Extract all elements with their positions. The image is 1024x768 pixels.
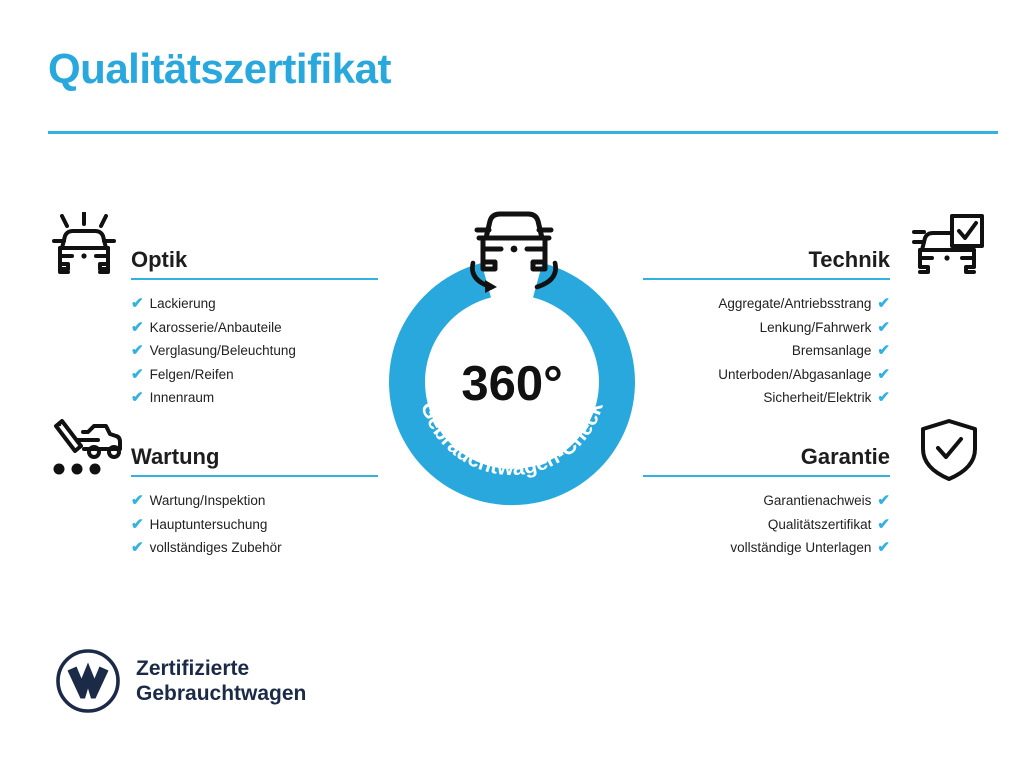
check-icon: ✔ (877, 342, 890, 359)
list-item-label: Verglasung/Beleuchtung (150, 343, 296, 358)
car-service-tool-icon (48, 418, 124, 480)
check-icon: ✔ (131, 539, 144, 556)
list-item-label: Felgen/Reifen (150, 367, 234, 382)
check-icon: ✔ (131, 516, 144, 533)
footer-brand: Zertifizierte Gebrauchtwagen (55, 648, 306, 714)
check-icon: ✔ (131, 295, 144, 312)
section-title: Wartung (131, 446, 219, 468)
checklist: ✔Wartung/Inspektion ✔Hauptuntersuchung ✔… (131, 477, 378, 560)
list-item-label: Hauptuntersuchung (150, 517, 268, 532)
list-item: Lenkung/Fahrwerk✔ (641, 316, 890, 340)
car-rotation-icon (455, 200, 573, 300)
section-divider (131, 278, 378, 280)
list-item-label: Unterboden/Abgasanlage (718, 367, 871, 382)
list-item: Bremsanlage✔ (641, 339, 890, 363)
section-title: Garantie (801, 446, 890, 468)
list-item-label: Wartung/Inspektion (150, 493, 266, 508)
list-item: Qualitätszertifikat✔ (641, 513, 890, 537)
section-header: Technik (641, 234, 890, 280)
page-title: Qualitätszertifikat (48, 48, 391, 90)
check-icon: ✔ (877, 492, 890, 509)
list-item: Garantienachweis✔ (641, 489, 890, 513)
list-item: ✔Hauptuntersuchung (131, 513, 378, 537)
section-wartung: Wartung ✔Wartung/Inspektion ✔Hauptunters… (131, 431, 378, 560)
vw-logo-icon (55, 648, 121, 714)
list-item: Aggregate/Antriebsstrang✔ (641, 292, 890, 316)
shield-check-icon (918, 418, 980, 482)
checklist: ✔Lackierung ✔Karosserie/Anbauteile ✔Verg… (131, 280, 378, 410)
section-divider (643, 475, 890, 477)
section-divider (643, 278, 890, 280)
list-item: ✔Wartung/Inspektion (131, 489, 378, 513)
section-optik: Optik ✔Lackierung ✔Karosserie/Anbauteile… (131, 234, 378, 410)
check-icon: ✔ (131, 366, 144, 383)
check-icon: ✔ (877, 389, 890, 406)
list-item: ✔Karosserie/Anbauteile (131, 316, 378, 340)
check-icon: ✔ (877, 295, 890, 312)
car-sparkle-icon (48, 212, 120, 278)
car-checkbox-icon (912, 212, 986, 278)
check-icon: ✔ (877, 366, 890, 383)
section-technik: Technik Aggregate/Antriebsstrang✔ Lenkun… (641, 234, 890, 410)
list-item-label: Lenkung/Fahrwerk (760, 320, 872, 335)
list-item: vollständige Unterlagen✔ (641, 536, 890, 560)
list-item: ✔Verglasung/Beleuchtung (131, 339, 378, 363)
footer-line-2: Gebrauchtwagen (136, 681, 306, 706)
list-item: Unterboden/Abgasanlage✔ (641, 363, 890, 387)
list-item-label: Qualitätszertifikat (768, 517, 872, 532)
list-item: ✔Innenraum (131, 386, 378, 410)
footer-text: Zertifizierte Gebrauchtwagen (136, 656, 306, 706)
section-title: Optik (131, 249, 187, 271)
list-item-label: vollständige Unterlagen (730, 540, 871, 555)
section-title: Technik (808, 249, 890, 271)
list-item-label: Karosserie/Anbauteile (150, 320, 282, 335)
section-header: Optik (131, 234, 378, 280)
list-item: ✔vollständiges Zubehör (131, 536, 378, 560)
list-item-label: Bremsanlage (792, 343, 872, 358)
check-icon: ✔ (877, 516, 890, 533)
section-garantie: Garantie Garantienachweis✔ Qualitätszert… (641, 431, 890, 560)
list-item: Sicherheit/Elektrik✔ (641, 386, 890, 410)
checklist: Aggregate/Antriebsstrang✔ Lenkung/Fahrwe… (641, 280, 890, 410)
list-item-label: Innenraum (150, 390, 215, 405)
check-icon: ✔ (877, 319, 890, 336)
check-icon: ✔ (131, 342, 144, 359)
list-item-label: Sicherheit/Elektrik (763, 390, 871, 405)
badge-degrees: 360° (461, 357, 562, 411)
list-item-label: Aggregate/Antriebsstrang (718, 296, 871, 311)
section-divider (131, 475, 378, 477)
checklist: Garantienachweis✔ Qualitätszertifikat✔ v… (641, 477, 890, 560)
section-header: Garantie (641, 431, 890, 477)
list-item: ✔Lackierung (131, 292, 378, 316)
list-item-label: vollständiges Zubehör (150, 540, 282, 555)
check-icon: ✔ (877, 539, 890, 556)
check-icon: ✔ (131, 389, 144, 406)
section-header: Wartung (131, 431, 378, 477)
footer-line-1: Zertifizierte (136, 656, 306, 681)
check-icon: ✔ (131, 319, 144, 336)
list-item-label: Lackierung (150, 296, 216, 311)
check-icon: ✔ (131, 492, 144, 509)
list-item-label: Garantienachweis (763, 493, 871, 508)
list-item: ✔Felgen/Reifen (131, 363, 378, 387)
header-divider (48, 131, 998, 134)
